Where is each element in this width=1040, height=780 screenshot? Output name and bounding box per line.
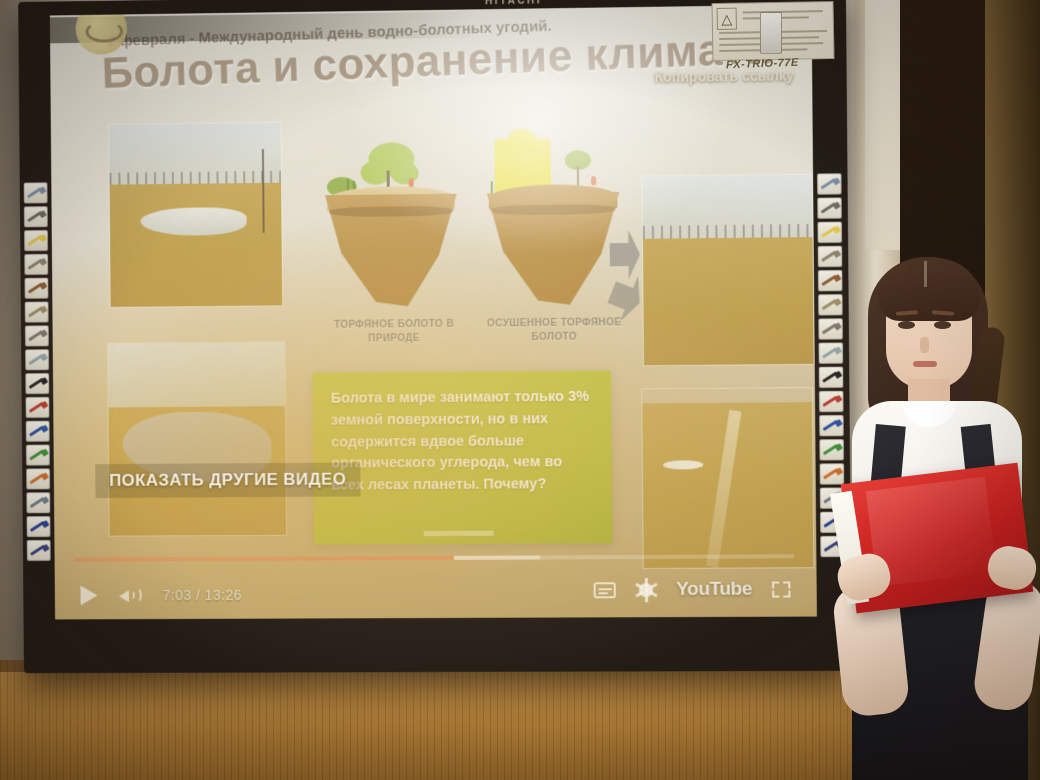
player-controls[interactable]: 7:03 / 13:26 YouTube	[54, 530, 817, 619]
fact-box: Болота в мире занимают только 3% земной …	[313, 371, 613, 545]
tool-nib	[832, 201, 840, 209]
progress-buffered	[454, 555, 541, 559]
tool-nib	[41, 520, 49, 528]
play-icon[interactable]	[80, 585, 97, 605]
tree-canopy-icon	[391, 162, 419, 184]
pen-red-tool[interactable]	[26, 397, 50, 418]
tool-nib	[40, 401, 48, 409]
corner-mark	[783, 581, 790, 588]
help-tool[interactable]	[27, 540, 51, 561]
player-right-controls[interactable]: YouTube	[594, 578, 791, 601]
nose	[920, 337, 929, 353]
tool-nib	[41, 472, 49, 480]
projector-model-label: FX-TRIO-77E	[726, 57, 799, 72]
photo-lake-shore	[107, 341, 287, 536]
pen-tool[interactable]	[817, 197, 842, 218]
hair-parting	[924, 261, 927, 287]
board-brand-label: HITACHI	[485, 0, 542, 7]
pen-green-tool[interactable]	[26, 445, 50, 466]
peat-bog-diagram	[316, 111, 638, 315]
tool-nib	[832, 177, 840, 185]
pen-orange-tool[interactable]	[26, 468, 50, 489]
tool-nib	[39, 305, 47, 313]
bog-drained	[486, 154, 620, 306]
pen-black-tool[interactable]	[25, 373, 49, 394]
tool-nib	[40, 425, 48, 433]
corner-mark	[783, 590, 790, 597]
wall-cabinet	[865, 0, 905, 250]
show-other-videos-button[interactable]: ПОКАЗАТЬ ДРУГИЕ ВИДЕО	[95, 462, 360, 498]
progress-played	[74, 556, 453, 562]
eye-right	[934, 321, 951, 329]
marker-brown-tool[interactable]	[25, 278, 49, 299]
shape-tool[interactable]	[25, 349, 49, 370]
board-toolbar-left[interactable]	[24, 182, 53, 561]
bog-natural	[325, 156, 458, 307]
select-tool[interactable]	[817, 173, 842, 194]
tool-nib	[39, 234, 47, 242]
photo-sky	[108, 342, 285, 409]
tool-nib	[38, 186, 46, 194]
tool-nib	[39, 282, 47, 290]
tool-nib	[833, 226, 841, 234]
tool-nib	[39, 210, 47, 218]
projection-screen[interactable]: ТОРФЯНОЕ БОЛОТО В ПРИРОДЕ ОСУШЕННОЕ ТОРФ…	[50, 5, 817, 620]
brush-tool[interactable]	[25, 302, 49, 323]
highlighter-yellow-tool[interactable]	[818, 222, 843, 243]
photo-ground	[643, 237, 814, 365]
classroom-scene: HITACHI	[0, 0, 1040, 780]
diagram-caption-right: ОСУШЕННОЕ ТОРФЯНОЕ БОЛОТО	[470, 316, 639, 345]
select-tool[interactable]	[24, 182, 48, 203]
highlighter-yellow-tool[interactable]	[24, 230, 48, 251]
tool-nib	[39, 258, 47, 266]
player-size-icon[interactable]	[772, 581, 790, 597]
diagram-caption-left: ТОРФЯНОЕ БОЛОТО В ПРИРОДЕ	[318, 318, 470, 346]
hair-top	[878, 259, 980, 321]
tool-nib	[42, 544, 50, 552]
warning-person-icon: △	[717, 8, 737, 30]
corner-mark	[772, 591, 779, 598]
pen-blue-tool[interactable]	[26, 421, 50, 442]
tool-nib	[41, 448, 49, 456]
youtube-watermark[interactable]: YouTube	[676, 579, 752, 601]
mouth	[913, 361, 937, 367]
pen-tool[interactable]	[24, 206, 48, 227]
progress-bar[interactable]	[74, 554, 794, 561]
photo-ground	[110, 183, 283, 307]
photo-bog-with-pool	[108, 122, 283, 308]
tool-nib	[40, 329, 48, 337]
photo-water-pool	[141, 207, 248, 235]
co2-emission-block	[506, 129, 536, 151]
photo-marsh-horizon	[641, 174, 814, 367]
spray-tool[interactable]	[26, 492, 50, 513]
copy-link-button[interactable]: Копировать ссылку	[654, 67, 794, 85]
tool-nib	[40, 377, 48, 385]
time-display: 7:03 / 13:26	[163, 587, 242, 603]
projector-device-graphic	[760, 12, 782, 54]
interactive-whiteboard[interactable]: HITACHI	[18, 0, 852, 673]
volume-wave-large	[132, 587, 142, 603]
corner-mark	[772, 581, 779, 588]
bird-icon	[591, 176, 596, 185]
info-tool[interactable]	[27, 516, 51, 537]
gear-icon[interactable]	[636, 580, 656, 600]
texture-tool[interactable]	[25, 325, 49, 346]
tool-nib	[40, 353, 48, 361]
subtitles-icon[interactable]	[594, 582, 616, 598]
fact-box-text: Болота в мире занимают только 3% земной …	[331, 387, 596, 498]
eraser-tool[interactable]	[24, 254, 48, 275]
eye-left	[898, 321, 915, 329]
speaker-shape	[119, 590, 129, 602]
player-left-controls[interactable]: 7:03 / 13:26	[80, 585, 242, 606]
slide-content: ТОРФЯНОЕ БОЛОТО В ПРИРОДЕ ОСУШЕННОЕ ТОРФ…	[50, 5, 817, 620]
tool-nib	[41, 496, 49, 504]
student-presenter	[830, 255, 1040, 780]
volume-icon[interactable]	[119, 586, 141, 604]
